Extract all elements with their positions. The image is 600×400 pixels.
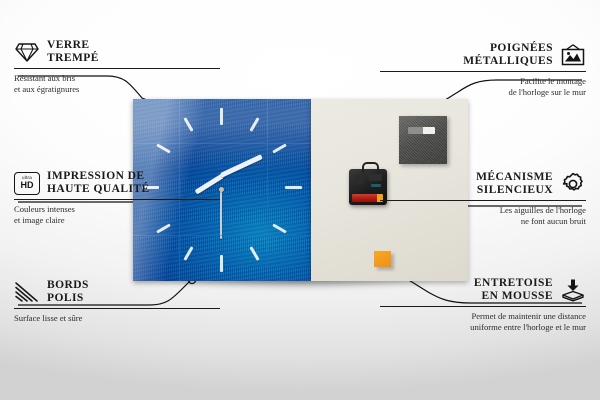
callout-header: VERRETREMPÉ — [14, 39, 220, 65]
tick-1 — [249, 117, 259, 131]
callout-subtitle: Les aiguilles de l'horlogene font aucun … — [380, 205, 586, 227]
tick-6 — [220, 255, 223, 272]
callout-divider — [14, 308, 220, 309]
callout-divider — [380, 71, 586, 72]
ultra-hd-icon-bottom-label: HD — [21, 181, 34, 190]
picture-frame-hanger-icon — [560, 43, 586, 67]
callout-divider — [380, 200, 586, 201]
callout-subtitle: Couleurs intenseset image claire — [14, 204, 220, 226]
callout-title: ENTRETOISEEN MOUSSE — [474, 277, 553, 303]
callout-header: POIGNÉESMÉTALLIQUES — [380, 42, 586, 68]
callout-title: POIGNÉESMÉTALLIQUES — [463, 42, 553, 68]
diamond-icon — [14, 40, 40, 64]
callout-header: ENTRETOISEEN MOUSSE — [380, 277, 586, 303]
callout-divider — [14, 199, 220, 200]
callout-entretoise-en-mousse: ENTRETOISEEN MOUSSE Permet de maintenir … — [380, 277, 586, 333]
callout-title: BORDSPOLIS — [47, 279, 89, 305]
callout-divider — [380, 306, 586, 307]
metal-handle — [399, 116, 447, 164]
minute-hand — [220, 154, 263, 178]
gear-icon — [560, 172, 586, 196]
tick-2 — [272, 143, 286, 153]
callout-poignees-metalliques: POIGNÉESMÉTALLIQUES Facilite le montaged… — [380, 42, 586, 98]
callout-subtitle: Facilite le montagede l'horloge sur le m… — [380, 76, 586, 98]
callout-mecanisme-silencieux: MÉCANISMESILENCIEUX Les aiguilles de l'h… — [380, 171, 586, 227]
callout-header: ultra HD IMPRESSION DEHAUTE QUALITÉ — [14, 170, 220, 196]
callout-title: VERRETREMPÉ — [47, 39, 99, 65]
callout-impression-haute-qualite: ultra HD IMPRESSION DEHAUTE QUALITÉ Coul… — [14, 170, 220, 226]
product-infographic: VERRETREMPÉ Résistant aux briset aux égr… — [0, 0, 600, 400]
tick-11 — [183, 117, 193, 131]
tick-5 — [249, 246, 259, 260]
hanging-loop-icon — [362, 162, 379, 173]
callout-title: MÉCANISMESILENCIEUX — [476, 171, 553, 197]
callout-title: IMPRESSION DEHAUTE QUALITÉ — [47, 170, 150, 196]
callout-divider — [14, 68, 220, 69]
mechanism-detail-a — [353, 174, 364, 185]
callout-verre-trempe: VERRETREMPÉ Résistant aux briset aux égr… — [14, 39, 220, 95]
tick-12 — [220, 108, 223, 125]
foam-spacer-icon — [560, 278, 586, 302]
metal-handle-slot — [408, 127, 435, 134]
callout-subtitle: Résistant aux briset aux égratignures — [14, 73, 220, 95]
battery — [352, 194, 382, 202]
callout-bords-polis: BORDSPOLIS Surface lisse et sûre — [14, 279, 220, 324]
tick-3 — [285, 186, 302, 189]
ultra-hd-icon: ultra HD — [14, 171, 40, 195]
callout-subtitle: Permet de maintenir une distanceuniforme… — [380, 311, 586, 333]
callout-header: BORDSPOLIS — [14, 279, 220, 305]
callout-subtitle: Surface lisse et sûre — [14, 313, 220, 324]
foam-spacer — [374, 251, 391, 267]
tick-10 — [156, 143, 170, 153]
tick-7 — [183, 246, 193, 260]
polished-edge-icon — [14, 280, 40, 304]
second-hand — [220, 187, 222, 239]
callout-header: MÉCANISMESILENCIEUX — [380, 171, 586, 197]
tick-4 — [272, 223, 286, 233]
